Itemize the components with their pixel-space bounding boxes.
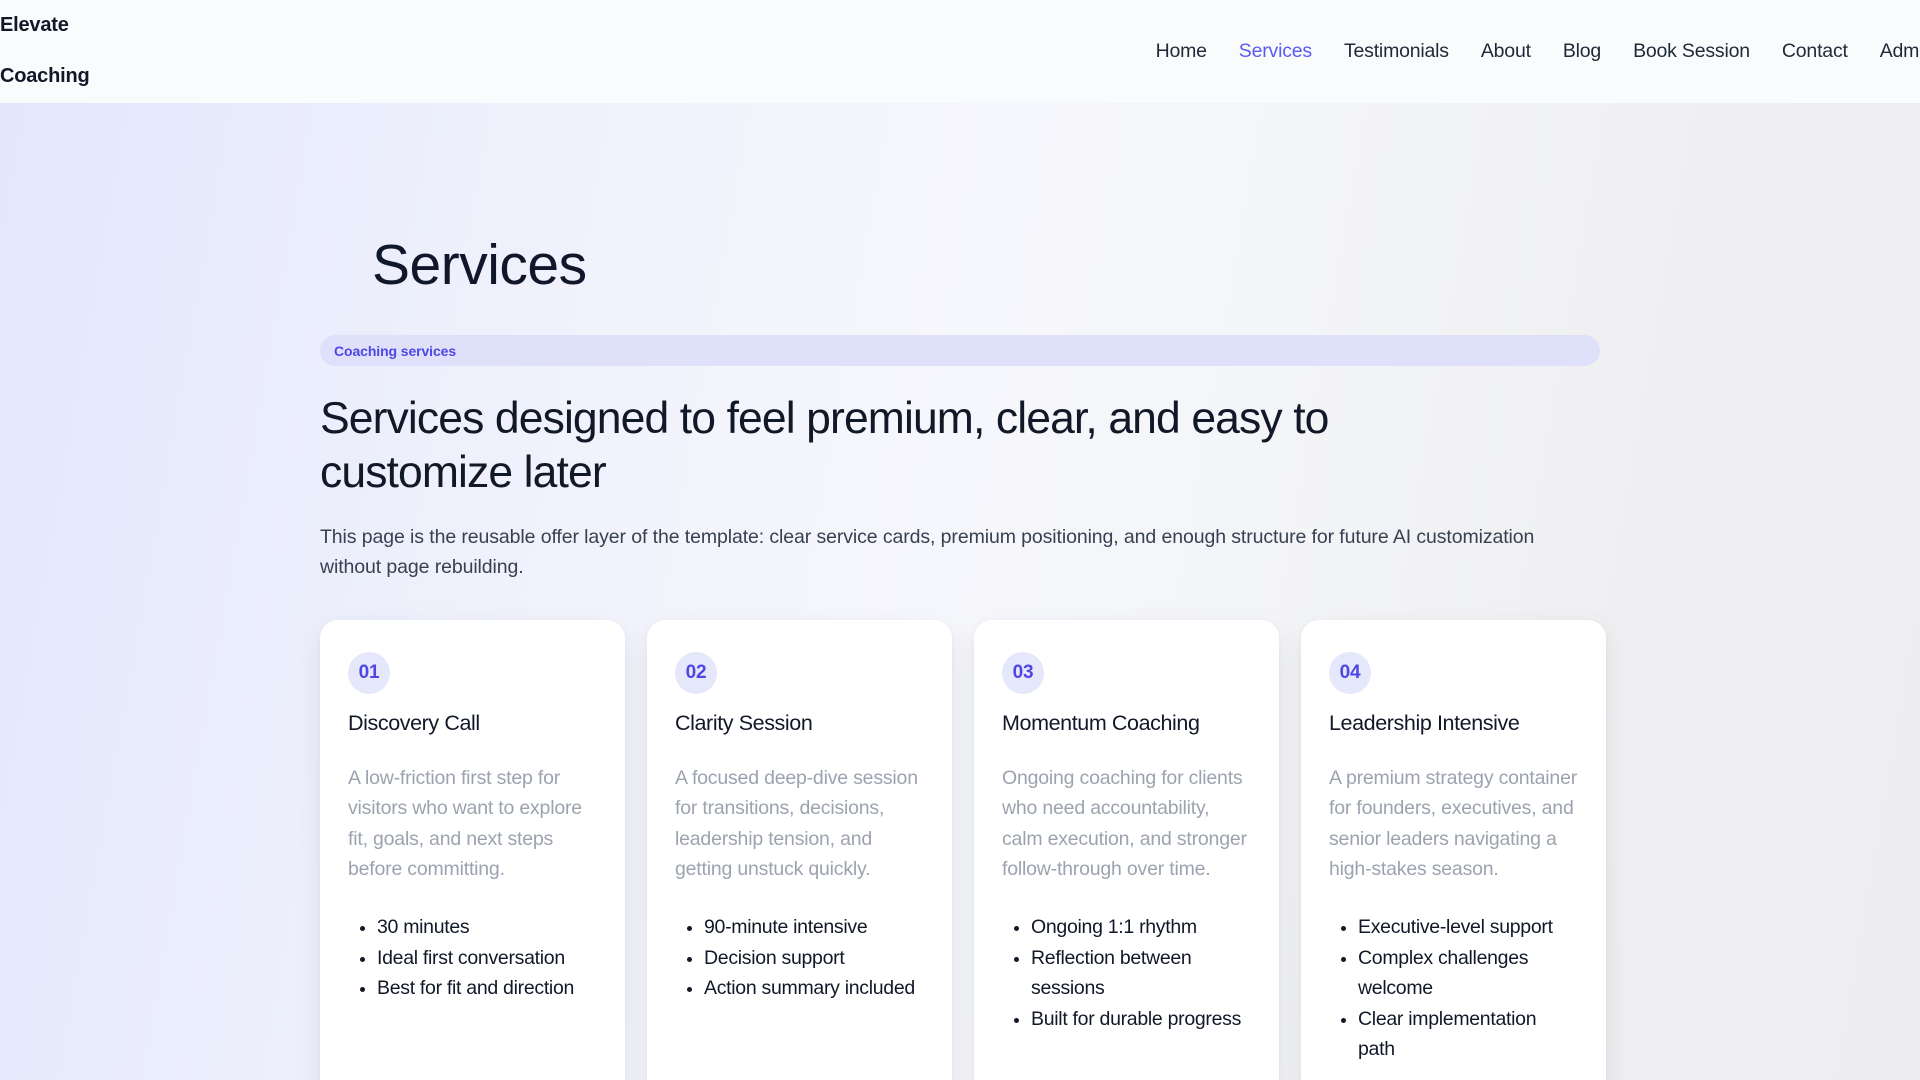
service-card[interactable]: 01Discovery CallA low-friction first ste… <box>320 620 625 1080</box>
nav-link-services[interactable]: Services <box>1239 40 1312 63</box>
site-header: Elevate Coaching HomeServicesTestimonial… <box>0 0 1920 103</box>
service-card-description: Ongoing coaching for clients who need ac… <box>1002 763 1251 885</box>
nav-link-blog[interactable]: Blog <box>1563 40 1601 63</box>
service-card-description: A premium strategy container for founder… <box>1329 763 1578 885</box>
nav-link-admin[interactable]: Admin <box>1880 40 1920 63</box>
service-card[interactable]: 03Momentum CoachingOngoing coaching for … <box>974 620 1279 1080</box>
brand-line-2: Coaching <box>0 64 90 90</box>
service-card-feature-item: Ideal first conversation <box>377 943 597 974</box>
service-card[interactable]: 04Leadership IntensiveA premium strategy… <box>1301 620 1606 1080</box>
main-navigation: HomeServicesTestimonialsAboutBlogBook Se… <box>1156 40 1920 63</box>
service-card-feature-list: Executive-level supportComplex challenge… <box>1329 912 1578 1065</box>
nav-link-about[interactable]: About <box>1481 40 1531 63</box>
service-card-description: A focused deep-dive session for transiti… <box>675 763 924 885</box>
service-card-feature-item: 90-minute intensive <box>704 912 924 943</box>
nav-link-home[interactable]: Home <box>1156 40 1207 63</box>
service-card-feature-list: 30 minutesIdeal first conversationBest f… <box>348 912 597 1004</box>
service-card-number-badge: 01 <box>348 652 390 694</box>
hero-section: Services Coaching services Services desi… <box>0 103 1920 1080</box>
category-badge: Coaching services <box>320 335 1600 366</box>
service-card-number-badge: 02 <box>675 652 717 694</box>
service-card-title: Clarity Session <box>675 711 924 737</box>
service-card-feature-item: 30 minutes <box>377 912 597 943</box>
hero-headline: Services designed to feel premium, clear… <box>320 392 1460 500</box>
service-card-title: Discovery Call <box>348 711 597 737</box>
page-title: Services <box>320 103 1600 294</box>
service-card-title: Momentum Coaching <box>1002 711 1251 737</box>
nav-link-contact[interactable]: Contact <box>1782 40 1848 63</box>
nav-link-book-session[interactable]: Book Session <box>1633 40 1750 63</box>
hero-description: This page is the reusable offer layer of… <box>320 522 1600 582</box>
service-card[interactable]: 02Clarity SessionA focused deep-dive ses… <box>647 620 952 1080</box>
service-card-number-badge: 04 <box>1329 652 1371 694</box>
service-card-number-badge: 03 <box>1002 652 1044 694</box>
nav-link-testimonials[interactable]: Testimonials <box>1344 40 1449 63</box>
service-card-feature-item: Clear implementation path <box>1358 1004 1578 1065</box>
service-cards-row: 01Discovery CallA low-friction first ste… <box>320 620 1600 1080</box>
service-card-feature-item: Built for durable progress <box>1031 1004 1251 1035</box>
service-card-feature-item: Ongoing 1:1 rhythm <box>1031 912 1251 943</box>
brand-logo[interactable]: Elevate Coaching <box>0 0 90 115</box>
service-card-feature-item: Action summary included <box>704 973 924 1004</box>
service-card-feature-item: Complex challenges welcome <box>1358 943 1578 1004</box>
service-card-title: Leadership Intensive <box>1329 711 1578 737</box>
service-card-description: A low-friction first step for visitors w… <box>348 763 597 885</box>
service-card-feature-item: Decision support <box>704 943 924 974</box>
service-card-feature-list: 90-minute intensiveDecision supportActio… <box>675 912 924 1004</box>
category-badge-label: Coaching services <box>334 343 456 359</box>
service-card-feature-item: Executive-level support <box>1358 912 1578 943</box>
service-card-feature-list: Ongoing 1:1 rhythmReflection between ses… <box>1002 912 1251 1034</box>
service-card-feature-item: Best for fit and direction <box>377 973 597 1004</box>
service-card-feature-item: Reflection between sessions <box>1031 943 1251 1004</box>
brand-line-1: Elevate <box>0 13 90 39</box>
hero-content-container: Services Coaching services Services desi… <box>320 103 1600 1080</box>
